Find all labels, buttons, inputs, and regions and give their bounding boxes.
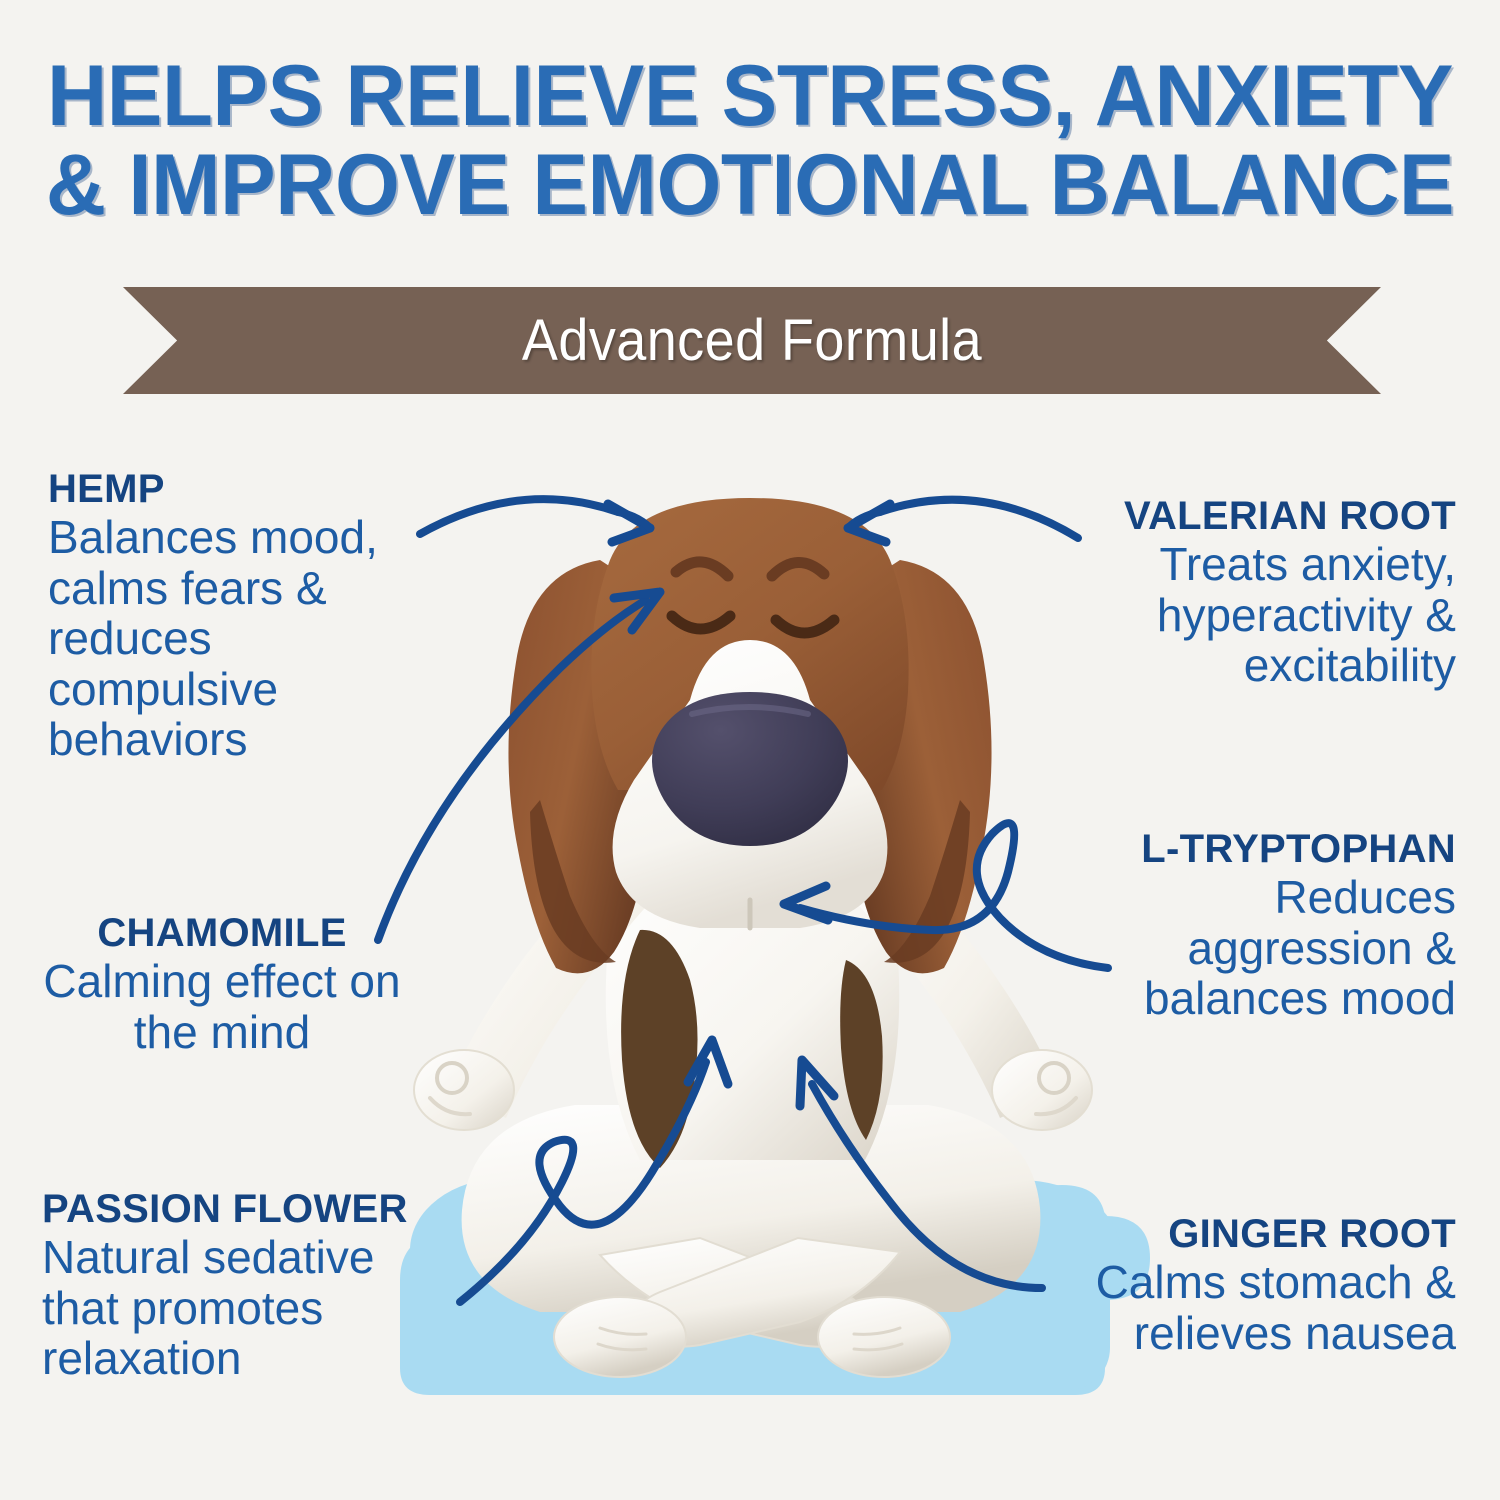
callout-hemp-body: Balances mood, calms fears & reduces com… (48, 512, 448, 765)
callout-passion-flower-body: Natural sedative that promotes relaxatio… (42, 1232, 454, 1384)
callout-chamomile-title: CHAMOMILE (42, 912, 402, 954)
callout-chamomile-body: Calming effect on the mind (42, 956, 402, 1057)
callout-ginger-root-body: Calms stomach & relieves nausea (1016, 1257, 1456, 1358)
callout-valerian-root-title: VALERIAN ROOT (1036, 495, 1456, 537)
callout-hemp: HEMP Balances mood, calms fears & reduce… (48, 468, 448, 765)
dog-hand-left (414, 1050, 514, 1130)
callout-valerian-root-body: Treats anxiety, hyperactivity & excitabi… (1036, 539, 1456, 691)
callout-chamomile: CHAMOMILE Calming effect on the mind (42, 912, 402, 1057)
infographic-canvas: HELPS RELIEVE STRESS, ANXIETY & IMPROVE … (0, 0, 1500, 1500)
callout-l-tryptophan-title: L-TRYPTOPHAN (1046, 828, 1456, 870)
arrow-hemp (420, 499, 650, 542)
dog-hand-right (992, 1050, 1092, 1130)
callout-ginger-root: GINGER ROOT Calms stomach & relieves nau… (1016, 1213, 1456, 1358)
callout-ginger-root-title: GINGER ROOT (1016, 1213, 1456, 1255)
callout-passion-flower-title: PASSION FLOWER (42, 1188, 454, 1230)
callout-valerian-root: VALERIAN ROOT Treats anxiety, hyperactiv… (1036, 495, 1456, 691)
callout-l-tryptophan: L-TRYPTOPHAN Reduces aggression & balanc… (1046, 828, 1456, 1024)
callout-hemp-title: HEMP (48, 468, 448, 510)
callout-passion-flower: PASSION FLOWER Natural sedative that pro… (42, 1188, 454, 1384)
callout-l-tryptophan-body: Reduces aggression & balances mood (1046, 872, 1456, 1024)
